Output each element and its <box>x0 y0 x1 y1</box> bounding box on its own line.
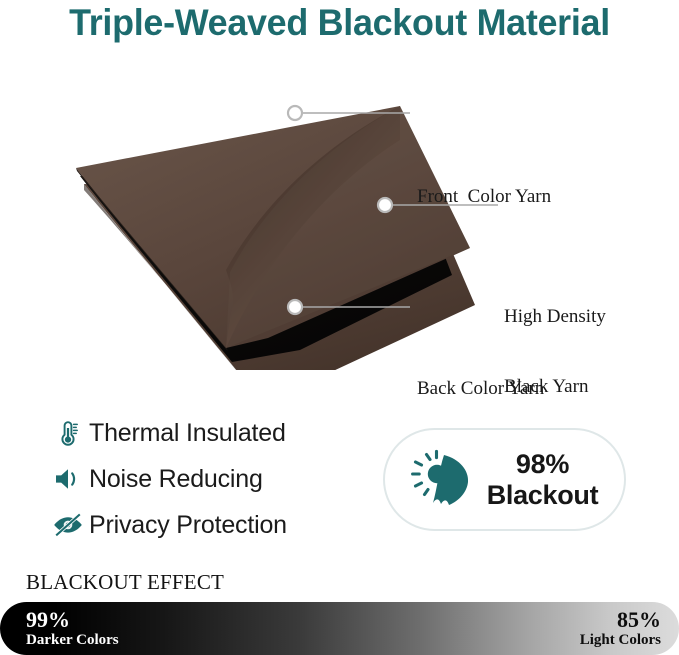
feature-label-thermal-insulated: Thermal Insulated <box>89 419 286 448</box>
infographic-page: Triple-Weaved Blackout Material <box>0 0 679 655</box>
darker-colors-caption: Darker Colors <box>26 632 119 649</box>
callout-label-front-color-yarn: Front Color Yarn <box>417 185 551 208</box>
feature-item-noise-reducing: Noise Reducing <box>47 456 377 502</box>
fabric-layers-diagram: Front Color Yarn High Density Black Yarn… <box>0 80 679 370</box>
feature-label-privacy-protection: Privacy Protection <box>89 511 287 540</box>
gradient-bar-right-value: 85% Light Colors <box>580 608 661 648</box>
light-colors-percent: 85% <box>580 608 661 632</box>
callout-label-high-density-black-yarn: High Density Black Yarn <box>504 259 606 444</box>
page-title: Triple-Weaved Blackout Material <box>10 2 669 44</box>
eye-slash-icon <box>47 506 89 544</box>
blackout-effect-heading: BLACKOUT EFFECT <box>26 570 224 595</box>
feature-item-thermal-insulated: Thermal Insulated <box>47 410 377 456</box>
feature-item-privacy-protection: Privacy Protection <box>47 502 377 548</box>
callout-label-line-1: High Density <box>504 305 606 328</box>
light-colors-caption: Light Colors <box>580 632 661 649</box>
thermometer-icon <box>47 414 89 452</box>
gradient-bar-left-value: 99% Darker Colors <box>26 608 119 648</box>
blackout-effect-gradient-bar: 99% Darker Colors 85% Light Colors <box>0 602 679 655</box>
callout-dot-icon <box>378 198 392 212</box>
blackout-label: Blackout <box>487 480 599 510</box>
blackout-percent: 98% <box>516 449 569 479</box>
blackout-badge: 98% Blackout <box>383 428 626 531</box>
feature-label-noise-reducing: Noise Reducing <box>89 465 263 494</box>
blackout-badge-text: 98% Blackout <box>487 449 599 509</box>
callout-label-back-color-yarn: Back Color Yarn <box>417 377 544 400</box>
feature-list: Thermal Insulated Noise Reducing <box>47 410 377 548</box>
callout-dot-icon <box>288 300 302 314</box>
sun-curtain-icon <box>411 449 477 511</box>
speaker-icon <box>47 460 89 498</box>
darker-colors-percent: 99% <box>26 608 119 632</box>
callout-dot-icon <box>288 106 302 120</box>
